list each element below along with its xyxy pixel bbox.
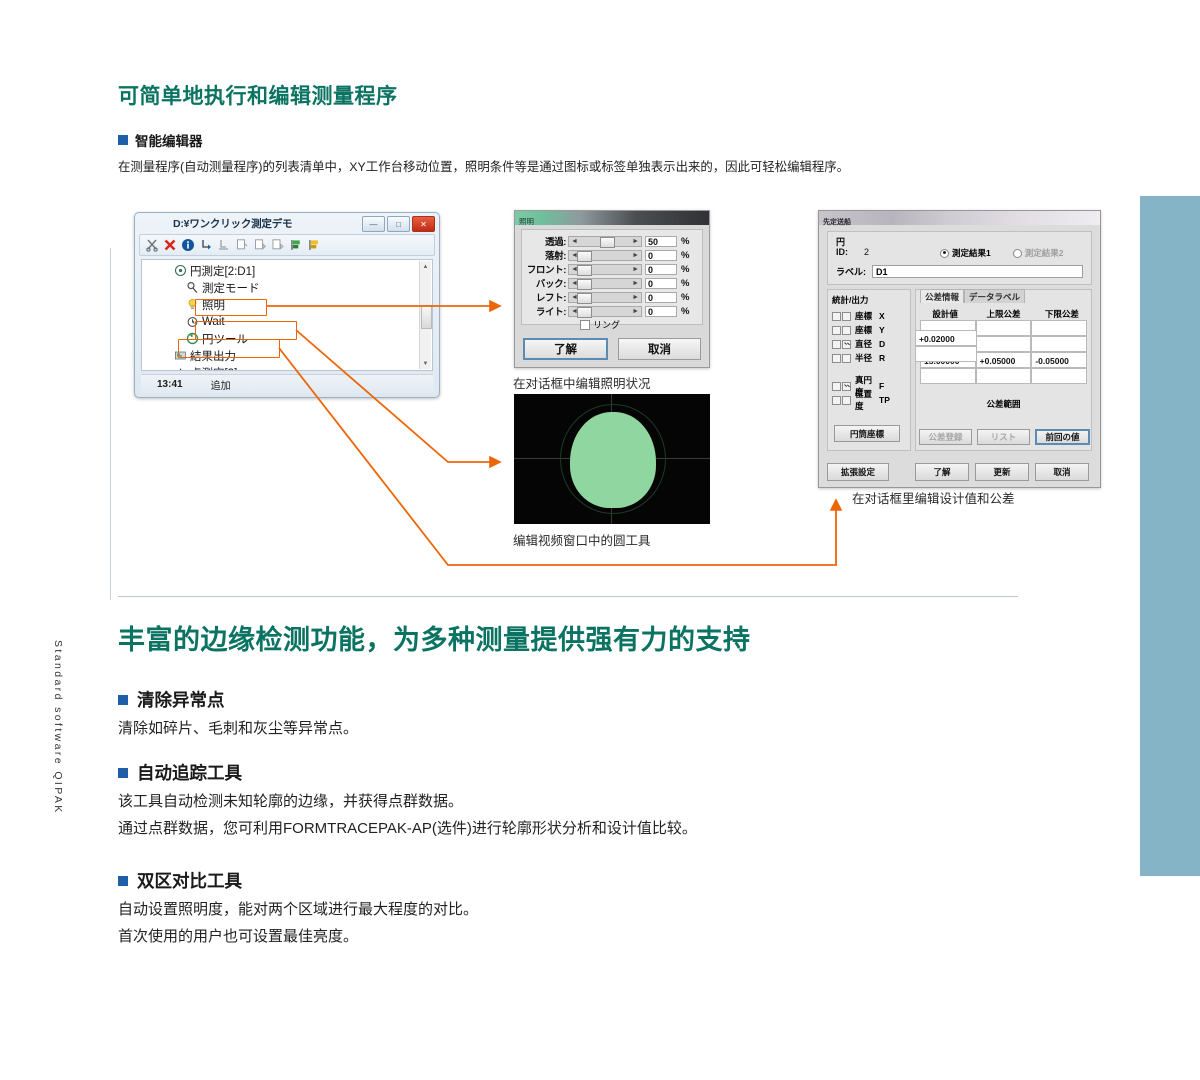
stats-row-symbol: TP — [879, 395, 890, 405]
tolerance-range-caption: 公差範囲 — [916, 398, 1091, 410]
slider-track[interactable]: ◄ ► — [568, 236, 642, 247]
video-window[interactable] — [514, 394, 710, 524]
section-body-dual-area-2: 首次使用的用户也可设置最佳亮度。 — [118, 925, 358, 949]
program-tree[interactable]: 円測定[2:D1] 測定モード 照明 Wait — [141, 259, 433, 371]
slider-value[interactable]: 0 — [645, 278, 677, 289]
right-accent-bar — [1140, 196, 1200, 876]
cell-design[interactable] — [920, 368, 976, 384]
slider-value[interactable]: 0 — [645, 250, 677, 261]
slider-row[interactable]: 透過: ◄ ► 50 % — [524, 234, 700, 248]
slider-track[interactable]: ◄ ► — [568, 306, 642, 317]
cell-upper[interactable] — [976, 336, 1032, 352]
scroll-up-icon[interactable]: ▲ — [420, 261, 431, 272]
slider-unit: % — [681, 264, 689, 275]
point-icon — [174, 366, 187, 371]
list-item-label: 照明 — [202, 297, 225, 313]
stats-row[interactable]: 位置度 TP — [832, 393, 910, 407]
section-body-dual-area-1: 自动设置照明度，能对两个区域进行最大程度的对比。 — [118, 898, 478, 922]
stats-checkbox-pair[interactable] — [832, 326, 851, 335]
update-button[interactable]: 更新 — [975, 463, 1029, 481]
table-row[interactable] — [915, 346, 977, 362]
vertical-side-label: Standard software QIPAK — [44, 640, 64, 815]
slider-group: 透過: ◄ ► 50 % 落射: ◄ ► 0 % フロント: ◄ — [521, 229, 703, 325]
slider-right-arrow-icon[interactable]: ► — [632, 280, 639, 287]
close-icon[interactable]: ✕ — [412, 216, 435, 232]
editor-toolbar[interactable] — [139, 234, 435, 256]
bullet-square-icon — [118, 768, 128, 778]
element-header-group: 円 ID: 2 測定結果1 測定結果2 ラベル: D1 — [827, 231, 1092, 285]
stats-row-symbol: X — [879, 311, 885, 321]
tolerance-action-buttons: 公差登録 リスト 前回の値 — [919, 429, 1090, 445]
tolerance-range-grid: +0.02000 — [915, 330, 977, 362]
list-item-circle-tool[interactable]: 円ツール — [142, 330, 420, 347]
section-body-clear-outliers: 清除如碎片、毛刺和灰尘等异常点。 — [118, 717, 358, 741]
slider-unit: % — [681, 236, 689, 247]
register-tolerance-button[interactable]: 公差登録 — [919, 429, 972, 445]
dialog-buttons: 了解 取消 — [523, 338, 701, 360]
cell-upper[interactable]: +0.05000 — [976, 352, 1032, 368]
slider-track[interactable]: ◄ ► — [568, 292, 642, 303]
paste-icon[interactable] — [253, 238, 267, 252]
list-item-label: 測定モード — [202, 280, 260, 296]
ok-button[interactable]: 了解 — [523, 338, 608, 360]
step-into-icon[interactable] — [199, 238, 213, 252]
stats-checkbox-pair[interactable] — [832, 396, 851, 405]
cut-icon[interactable] — [145, 238, 159, 252]
slider-right-arrow-icon[interactable]: ► — [632, 294, 639, 301]
illumination-caption: 在对话框中编辑照明状况 — [513, 373, 651, 392]
minimize-icon[interactable]: — — [362, 216, 385, 232]
stats-row-symbol: F — [879, 381, 884, 391]
scrollbar-thumb[interactable] — [421, 305, 432, 329]
column-header-lower: 下限公差 — [1033, 308, 1091, 320]
bullet-square-icon — [118, 695, 128, 705]
magnifier-icon — [186, 281, 199, 294]
list-item[interactable]: 円測定[2:D1] — [142, 262, 420, 279]
stats-output-caption: 統計/出力 — [832, 294, 910, 306]
section-title: 丰富的边缘检测功能，为多种测量提供强有力的支持 — [118, 618, 751, 657]
result-radio-group[interactable]: 測定結果1 測定結果2 — [940, 247, 1063, 259]
list-item[interactable]: 点測定[3] — [142, 364, 420, 371]
intro-paragraph: 在测量程序(自动测量程序)的列表清单中，XY工作台移动位置，照明条件等是通过图标… — [118, 158, 849, 178]
cell-upper[interactable] — [976, 320, 1032, 336]
tolerance-tabs[interactable]: 公差情報 データラベル — [920, 289, 1025, 303]
dialog-bottom-buttons: 拡張設定 了解 更新 取消 — [827, 463, 1092, 481]
status-time: 13:41 — [157, 379, 183, 390]
stats-checkbox[interactable] — [832, 382, 841, 391]
output-checkbox[interactable] — [842, 312, 851, 321]
tolerance-column-headers: 設計値 上限公差 下限公差 — [916, 308, 1091, 320]
cancel-button[interactable]: 取消 — [618, 338, 701, 360]
dialog-titlebar: 先定送船 — [819, 211, 1100, 225]
element-id-value: 2 — [864, 247, 869, 257]
stats-checkbox-pair[interactable] — [832, 354, 851, 363]
ring-checkbox-row[interactable]: リング — [524, 318, 700, 331]
ring-label: リング — [593, 318, 620, 331]
stats-row-name: 位置度 — [855, 388, 879, 412]
subsection-heading-label: 智能编辑器 — [135, 130, 203, 150]
list-button[interactable]: リスト — [977, 429, 1030, 445]
stats-row-symbol: Y — [879, 325, 885, 335]
ring-checkbox[interactable] — [580, 320, 590, 330]
slider-row[interactable]: 落射: ◄ ► 0 % — [524, 248, 700, 262]
slider-value[interactable]: 0 — [645, 292, 677, 303]
radio-result-1[interactable]: 測定結果1 — [940, 247, 991, 259]
output-checkbox[interactable] — [842, 382, 851, 391]
stats-output-group: 統計/出力 座標 X 座標 Y 直径 D — [827, 289, 911, 451]
label-field-input[interactable]: D1 — [872, 265, 1083, 278]
stats-checkbox-pair[interactable] — [832, 382, 851, 391]
step-out-icon[interactable] — [217, 238, 231, 252]
copy-icon[interactable] — [235, 238, 249, 252]
lightbulb-icon — [186, 298, 199, 311]
radio-result-2[interactable]: 測定結果2 — [1013, 247, 1064, 259]
slider-knob[interactable] — [577, 251, 592, 262]
slider-unit: % — [681, 250, 689, 261]
tree-vertical-scrollbar[interactable]: ▲ ▼ — [419, 261, 431, 369]
slider-track[interactable]: ◄ ► — [568, 250, 642, 261]
tab-tolerance-info[interactable]: 公差情報 — [920, 289, 964, 303]
video-caption: 编辑视频窗口中的圆工具 — [513, 530, 651, 549]
slider-right-arrow-icon[interactable]: ► — [632, 266, 639, 273]
slider-track[interactable]: ◄ ► — [568, 264, 642, 275]
slider-value[interactable]: 0 — [645, 306, 677, 317]
stats-checkbox[interactable] — [832, 326, 841, 335]
tolerance-panel: 公差情報 データラベル 設計値 上限公差 下限公差 15.00000 +0.05… — [915, 289, 1092, 451]
stats-checkbox[interactable] — [832, 340, 841, 349]
tolerance-caption: 在对话框里编辑设计值和公差 — [852, 488, 1015, 507]
list-item-label: 結果出力 — [190, 348, 236, 364]
maximize-icon[interactable]: □ — [387, 216, 410, 232]
program-editor-window[interactable]: D:¥ワンクリック測定デモ — □ ✕ — [134, 212, 440, 398]
slider-knob[interactable] — [577, 293, 592, 304]
dialog-title: 先定送船 — [823, 216, 851, 230]
output-icon — [174, 349, 187, 362]
subsection-heading: 智能编辑器 — [118, 130, 203, 150]
info-icon[interactable] — [181, 238, 195, 252]
label-field-caption: ラベル: — [836, 265, 866, 278]
cell-lower[interactable]: -0.05000 — [1031, 352, 1087, 368]
slider-knob[interactable] — [600, 237, 615, 248]
stats-row-name: 座標 — [855, 324, 879, 336]
bullet-square-icon — [118, 135, 128, 145]
column-header-design: 設計値 — [916, 308, 974, 320]
extended-settings-button[interactable]: 拡張設定 — [827, 463, 889, 481]
flag-yellow-icon[interactable] — [307, 238, 321, 252]
stats-checkbox[interactable] — [832, 312, 841, 321]
status-text: 追加 — [211, 377, 231, 392]
slider-label: バック: — [524, 276, 568, 290]
radio-label: 測定結果1 — [952, 247, 991, 259]
program-tree-list: 円測定[2:D1] 測定モード 照明 Wait — [142, 262, 420, 371]
cancel-button[interactable]: 取消 — [1035, 463, 1089, 481]
tab-data-label[interactable]: データラベル — [964, 289, 1025, 303]
slider-row[interactable]: フロント: ◄ ► 0 % — [524, 262, 700, 276]
stats-checkbox-pair[interactable] — [832, 340, 851, 349]
list-item-label: 点測定[3] — [190, 365, 237, 372]
element-id-label: ID: — [836, 247, 848, 257]
tolerance-dialog[interactable]: 先定送船 円 ID: 2 測定結果1 測定結果2 ラベル: D1 統計/出力 — [818, 210, 1101, 488]
list-item[interactable]: 測定モード — [142, 279, 420, 296]
slider-label: 透過: — [524, 234, 568, 248]
stats-row[interactable]: 半径 R — [832, 351, 910, 365]
stats-row[interactable]: 座標 X — [832, 309, 910, 323]
dialog-title: 照明 — [519, 215, 534, 229]
previous-value-button[interactable]: 前回の値 — [1035, 429, 1090, 445]
slider-left-arrow-icon[interactable]: ◄ — [571, 238, 578, 245]
circle-target-icon — [174, 264, 187, 277]
table-row[interactable]: +0.02000 — [915, 330, 977, 346]
cell-upper[interactable] — [976, 368, 1032, 384]
delete-icon[interactable] — [163, 238, 177, 252]
bullet-square-icon — [118, 876, 128, 886]
list-item-label: 円ツール — [202, 331, 248, 347]
list-item-result-output[interactable]: 結果出力 — [142, 347, 420, 364]
cell-lower[interactable] — [1031, 320, 1087, 336]
slider-row[interactable]: レフト: ◄ ► 0 % — [524, 290, 700, 304]
window-controls: — □ ✕ — [362, 216, 435, 232]
slider-track[interactable]: ◄ ► — [568, 278, 642, 289]
measured-part-shape — [570, 412, 656, 508]
list-item-label: 円測定[2:D1] — [190, 263, 255, 279]
list-item-illumination[interactable]: 照明 — [142, 296, 420, 313]
cell-lower[interactable] — [1031, 336, 1087, 352]
section-heading-label: 自动追踪工具 — [137, 760, 242, 785]
table-row[interactable] — [920, 368, 1087, 384]
slider-right-arrow-icon[interactable]: ► — [632, 238, 639, 245]
dialog-titlebar: 照明 — [515, 211, 709, 225]
slider-knob[interactable] — [577, 307, 592, 318]
circle-tool-icon — [186, 332, 199, 345]
stats-row-name: 半径 — [855, 352, 879, 364]
ok-button[interactable]: 了解 — [915, 463, 969, 481]
slider-label: ライト: — [524, 304, 568, 318]
slider-right-arrow-icon[interactable]: ► — [632, 252, 639, 259]
slider-knob[interactable] — [577, 265, 592, 276]
slider-unit: % — [681, 306, 689, 317]
cell-range-empty[interactable] — [915, 346, 977, 362]
slider-value[interactable]: 50 — [645, 236, 677, 247]
stats-row-name: 座標 — [855, 310, 879, 322]
polar-coordinate-button[interactable]: 円筒座標 — [834, 425, 900, 442]
radio-dot-icon — [1013, 249, 1022, 258]
stats-checkbox[interactable] — [832, 354, 841, 363]
stats-row-symbol: R — [879, 353, 885, 363]
output-checkbox[interactable] — [842, 326, 851, 335]
output-checkbox[interactable] — [842, 340, 851, 349]
radio-label: 測定結果2 — [1025, 247, 1064, 259]
stats-row[interactable]: 直径 D — [832, 337, 910, 351]
slider-unit: % — [681, 278, 689, 289]
window-title: D:¥ワンクリック測定デモ — [173, 216, 292, 231]
section-heading-label: 双区对比工具 — [137, 868, 242, 893]
slider-label: フロント: — [524, 262, 568, 276]
column-header-upper: 上限公差 — [974, 308, 1032, 320]
slider-knob[interactable] — [577, 279, 592, 290]
output-checkbox[interactable] — [842, 354, 851, 363]
insert-icon[interactable] — [271, 238, 285, 252]
slider-label: 落射: — [524, 248, 568, 262]
slider-unit: % — [681, 292, 689, 303]
section-heading-autotrace: 自动追踪工具 — [118, 760, 242, 785]
list-item-label: Wait — [202, 316, 225, 328]
section-heading-clear-outliers: 清除异常点 — [118, 687, 225, 712]
stats-row-symbol: D — [879, 339, 885, 349]
cell-range-value[interactable]: +0.02000 — [915, 330, 977, 346]
illumination-dialog[interactable]: 照明 透過: ◄ ► 50 % 落射: ◄ ► 0 % フロント: — [514, 210, 710, 368]
slider-right-arrow-icon[interactable]: ► — [632, 308, 639, 315]
section-body-autotrace-2: 通过点群数据，您可利用FORMTRACEPAK-AP(选件)进行轮廓形状分析和设… — [118, 817, 697, 841]
section-heading-dual-area: 双区对比工具 — [118, 868, 242, 893]
label-field-row[interactable]: ラベル: D1 — [836, 265, 1083, 278]
stats-checkbox-pair[interactable] — [832, 312, 851, 321]
list-item[interactable]: Wait — [142, 313, 420, 330]
output-checkbox[interactable] — [842, 396, 851, 405]
page-title: 可简单地执行和编辑测量程序 — [118, 80, 398, 110]
section-heading-label: 清除异常点 — [137, 687, 225, 712]
flag-green-icon[interactable] — [289, 238, 303, 252]
slider-row[interactable]: バック: ◄ ► 0 % — [524, 276, 700, 290]
slider-row[interactable]: ライト: ◄ ► 0 % — [524, 304, 700, 318]
figure-left-rule — [110, 248, 111, 600]
slider-value[interactable]: 0 — [645, 264, 677, 275]
cell-lower[interactable] — [1031, 368, 1087, 384]
window-titlebar: D:¥ワンクリック測定デモ — □ ✕ — [135, 213, 439, 233]
statusbar: 13:41 追加 — [141, 374, 433, 393]
section-divider — [118, 596, 1018, 597]
scroll-down-icon[interactable]: ▼ — [420, 358, 431, 369]
radio-dot-icon — [940, 249, 949, 258]
clock-icon — [186, 315, 199, 328]
slider-label: レフト: — [524, 290, 568, 304]
stats-row-name: 直径 — [855, 338, 879, 350]
section-body-autotrace-1: 该工具自动检测未知轮廓的边缘，并获得点群数据。 — [118, 790, 463, 814]
stats-row[interactable]: 座標 Y — [832, 323, 910, 337]
stats-checkbox[interactable] — [832, 396, 841, 405]
